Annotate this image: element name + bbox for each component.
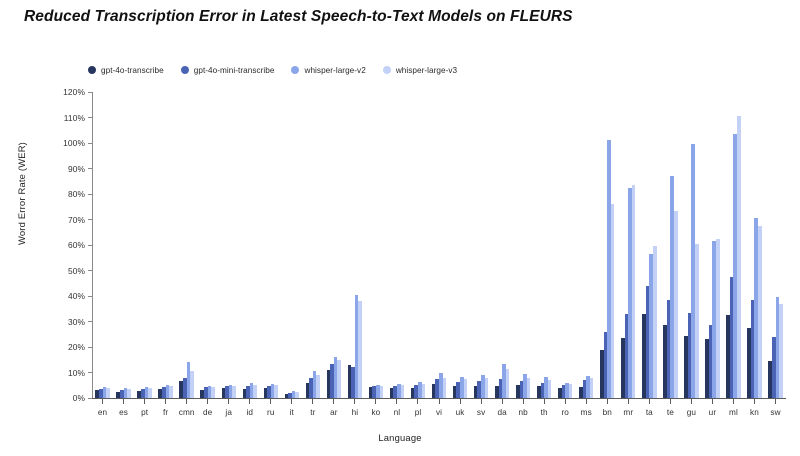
bar-group	[365, 92, 386, 398]
x-axis-tick-mark	[354, 399, 355, 404]
x-axis-tick-mark	[396, 399, 397, 404]
x-axis-tick-label: sv	[477, 408, 485, 417]
x-axis-tick-mark	[228, 399, 229, 404]
legend-label: gpt-4o-transcribe	[101, 66, 164, 75]
x-axis-tick: id	[239, 399, 260, 421]
y-axis-tick: 60%	[68, 240, 92, 250]
x-axis-tick-mark	[460, 399, 461, 404]
x-axis-tick: pt	[134, 399, 155, 421]
bar-group	[660, 92, 681, 398]
x-axis-tick: ru	[260, 399, 281, 421]
x-axis-tick-mark	[123, 399, 124, 404]
bar-group	[702, 92, 723, 398]
y-axis-tick: 30%	[68, 317, 92, 327]
y-axis-tick: 80%	[68, 189, 92, 199]
bar[interactable]	[695, 244, 699, 398]
x-axis-tick-mark	[544, 399, 545, 404]
x-axis-tick-label: nl	[394, 408, 401, 417]
legend-label: whisper-large-v2	[304, 66, 365, 75]
y-axis-tick-label: 100%	[63, 138, 85, 148]
x-axis-tick-label: da	[497, 408, 506, 417]
x-axis-tick-mark	[523, 399, 524, 404]
legend-swatch-icon	[181, 66, 189, 74]
legend-swatch-icon	[383, 66, 391, 74]
bar-groups	[92, 92, 786, 398]
bar-group	[513, 92, 534, 398]
x-axis-tick-label: ms	[581, 408, 592, 417]
x-axis-tick-label: vi	[436, 408, 442, 417]
x-axis-tick-label: en	[98, 408, 107, 417]
x-axis-tick: ms	[576, 399, 597, 421]
y-axis-tick-label: 30%	[68, 317, 85, 327]
x-axis-title: Language	[0, 432, 800, 443]
bar-group	[281, 92, 302, 398]
x-axis-tick: pl	[407, 399, 428, 421]
x-axis-tick: te	[660, 399, 681, 421]
bar[interactable]	[380, 386, 384, 398]
bar[interactable]	[274, 385, 278, 398]
chart-legend: gpt-4o-transcribegpt-4o-mini-transcribew…	[88, 63, 457, 77]
x-axis-tick-mark	[312, 399, 313, 404]
x-axis-tick: sv	[471, 399, 492, 421]
bar[interactable]	[127, 389, 131, 398]
y-axis-title: Word Error Rate (WER)	[16, 142, 27, 245]
bar-group	[113, 92, 134, 398]
y-axis-tick: 70%	[68, 215, 92, 225]
bar[interactable]	[737, 116, 741, 398]
bar-group	[197, 92, 218, 398]
x-axis-tick: ml	[723, 399, 744, 421]
bar[interactable]	[464, 379, 468, 398]
x-axis-tick-label: nb	[518, 408, 527, 417]
bar-group	[407, 92, 428, 398]
x-axis-tick-mark	[565, 399, 566, 404]
bar-group	[681, 92, 702, 398]
bar[interactable]	[211, 387, 215, 398]
x-axis-tick: nb	[513, 399, 534, 421]
bar-group	[492, 92, 513, 398]
x-axis-tick-mark	[165, 399, 166, 404]
x-axis-ticks: enesptfrcmndejaidruittrarhikonlplviuksvd…	[92, 399, 786, 421]
bar-group	[134, 92, 155, 398]
x-axis-tick-label: ar	[330, 408, 337, 417]
bar-group	[555, 92, 576, 398]
x-axis-tick-mark	[102, 399, 103, 404]
x-axis-tick-mark	[733, 399, 734, 404]
x-axis-tick-mark	[586, 399, 587, 404]
y-axis-tick: 90%	[68, 164, 92, 174]
bar-group	[323, 92, 344, 398]
x-axis-tick-mark	[712, 399, 713, 404]
legend-swatch-icon	[88, 66, 96, 74]
bar[interactable]	[232, 386, 236, 398]
x-axis-tick-label: ja	[225, 408, 232, 417]
x-axis-tick-mark	[649, 399, 650, 404]
x-axis-tick-mark	[502, 399, 503, 404]
y-axis-tick-label: 20%	[68, 342, 85, 352]
bar-group	[597, 92, 618, 398]
bar-group	[218, 92, 239, 398]
x-axis-tick: vi	[429, 399, 450, 421]
bar[interactable]	[316, 375, 320, 398]
x-axis-tick: ja	[218, 399, 239, 421]
x-axis-tick-mark	[144, 399, 145, 404]
x-axis-tick-label: hi	[352, 408, 359, 417]
x-axis-tick-label: pt	[141, 408, 148, 417]
x-axis-tick-label: sw	[770, 408, 780, 417]
chart-container: Reduced Transcription Error in Latest Sp…	[0, 0, 800, 456]
x-axis-tick: de	[197, 399, 218, 421]
x-axis-tick-label: de	[203, 408, 212, 417]
x-axis-tick: es	[113, 399, 134, 421]
x-axis-tick-label: cmn	[179, 408, 195, 417]
x-axis-tick-label: fr	[163, 408, 168, 417]
bar-group	[429, 92, 450, 398]
y-axis-tick: 120%	[63, 87, 92, 97]
bar[interactable]	[653, 246, 657, 398]
x-axis-tick-label: bn	[603, 408, 612, 417]
bar[interactable]	[527, 378, 531, 398]
bar[interactable]	[569, 384, 573, 398]
bar-group	[176, 92, 197, 398]
x-axis-tick-mark	[333, 399, 334, 404]
y-axis-tick: 100%	[63, 138, 92, 148]
x-axis-tick-label: ro	[561, 408, 568, 417]
x-axis-tick: gu	[681, 399, 702, 421]
x-axis-tick: ur	[702, 399, 723, 421]
x-axis-tick-mark	[270, 399, 271, 404]
bar-group	[744, 92, 765, 398]
x-axis-tick-mark	[628, 399, 629, 404]
x-axis-tick: sw	[765, 399, 786, 421]
x-axis-tick: it	[281, 399, 302, 421]
bar[interactable]	[632, 185, 636, 398]
x-axis-tick: mr	[618, 399, 639, 421]
bar-group	[155, 92, 176, 398]
x-axis-tick-label: es	[119, 408, 128, 417]
y-axis-tick-label: 50%	[68, 266, 85, 276]
x-axis-tick-mark	[670, 399, 671, 404]
y-axis-tick: 20%	[68, 342, 92, 352]
bar[interactable]	[169, 386, 173, 398]
legend-swatch-icon	[291, 66, 299, 74]
x-axis-tick-mark	[186, 399, 187, 404]
y-axis-tick: 50%	[68, 266, 92, 276]
x-axis-tick: ko	[365, 399, 386, 421]
x-axis-tick: uk	[450, 399, 471, 421]
bar-group	[239, 92, 260, 398]
bar-group	[92, 92, 113, 398]
x-axis-tick-mark	[439, 399, 440, 404]
x-axis-tick: cmn	[176, 399, 197, 421]
bar-group	[534, 92, 555, 398]
x-axis-tick: ta	[639, 399, 660, 421]
y-axis-tick-label: 80%	[68, 189, 85, 199]
x-axis-tick-mark	[291, 399, 292, 404]
x-axis-tick-label: tr	[310, 408, 315, 417]
x-axis-tick-mark	[249, 399, 250, 404]
x-axis-tick-mark	[775, 399, 776, 404]
bar[interactable]	[548, 380, 552, 398]
bar[interactable]	[443, 378, 447, 398]
x-axis-tick-mark	[417, 399, 418, 404]
plot-area: 120%110%100%90%80%70%60%50%40%30%20%10%0…	[92, 92, 786, 398]
x-axis-tick: da	[492, 399, 513, 421]
x-axis-tick-label: uk	[456, 408, 465, 417]
bar[interactable]	[590, 378, 594, 398]
bar-group	[386, 92, 407, 398]
legend-label: gpt-4o-mini-transcribe	[194, 66, 275, 75]
bar[interactable]	[106, 388, 110, 398]
x-axis-tick-mark	[207, 399, 208, 404]
bar-group	[302, 92, 323, 398]
x-axis-tick-label: mr	[623, 408, 633, 417]
y-axis-tick: 110%	[64, 113, 92, 123]
bar[interactable]	[295, 392, 299, 398]
x-axis-tick-mark	[481, 399, 482, 404]
bar-group	[723, 92, 744, 398]
bar[interactable]	[337, 360, 341, 398]
x-axis-tick-mark	[691, 399, 692, 404]
x-axis-tick-label: ru	[267, 408, 274, 417]
y-axis-tick-label: 10%	[68, 368, 85, 378]
bar-group	[450, 92, 471, 398]
x-axis-tick-label: gu	[687, 408, 696, 417]
legend-item[interactable]: gpt-4o-mini-transcribe	[181, 66, 275, 75]
x-axis-tick: tr	[302, 399, 323, 421]
x-axis-tick: th	[534, 399, 555, 421]
x-axis-tick: fr	[155, 399, 176, 421]
x-axis-tick-label: ur	[709, 408, 716, 417]
legend-item[interactable]: whisper-large-v3	[383, 66, 457, 75]
legend-item[interactable]: gpt-4o-transcribe	[88, 66, 164, 75]
y-axis-tick: 10%	[68, 368, 92, 378]
bar[interactable]	[716, 239, 720, 398]
y-axis-tick-label: 60%	[68, 240, 85, 250]
x-axis-tick-label: kn	[750, 408, 759, 417]
x-axis-tick-label: ml	[729, 408, 738, 417]
y-axis-tick: 0%	[73, 393, 92, 403]
x-axis-tick-label: ko	[371, 408, 380, 417]
bar-group	[618, 92, 639, 398]
bar-group	[344, 92, 365, 398]
bar[interactable]	[779, 304, 783, 398]
bar[interactable]	[611, 204, 615, 398]
bar[interactable]	[485, 378, 489, 398]
y-axis-tick-label: 70%	[68, 215, 85, 225]
bar[interactable]	[674, 211, 678, 398]
bar[interactable]	[422, 384, 426, 398]
y-axis-tick: 40%	[68, 291, 92, 301]
y-axis-tick-label: 90%	[68, 164, 85, 174]
y-axis-tick-label: 110%	[64, 113, 85, 123]
y-axis-tick-label: 0%	[73, 393, 85, 403]
bar[interactable]	[758, 226, 762, 398]
x-axis-tick-mark	[754, 399, 755, 404]
bar[interactable]	[190, 371, 194, 398]
bar[interactable]	[358, 301, 362, 398]
x-axis-tick: nl	[386, 399, 407, 421]
x-axis-tick: ar	[323, 399, 344, 421]
bar[interactable]	[506, 369, 510, 398]
x-axis-tick-label: it	[290, 408, 294, 417]
bar-group	[260, 92, 281, 398]
x-axis-tick: hi	[344, 399, 365, 421]
x-axis-tick-label: pl	[415, 408, 422, 417]
y-axis-tick-label: 40%	[68, 291, 85, 301]
chart-title: Reduced Transcription Error in Latest Sp…	[24, 8, 573, 26]
x-axis-tick-label: id	[246, 408, 253, 417]
x-axis-tick-mark	[607, 399, 608, 404]
bar[interactable]	[253, 385, 257, 398]
bar[interactable]	[401, 385, 405, 398]
x-axis-tick-mark	[375, 399, 376, 404]
y-axis-tick-label: 120%	[63, 87, 85, 97]
bar-group	[639, 92, 660, 398]
x-axis-tick: bn	[597, 399, 618, 421]
x-axis-tick: ro	[555, 399, 576, 421]
legend-item[interactable]: whisper-large-v2	[291, 66, 365, 75]
x-axis-tick: kn	[744, 399, 765, 421]
bar-group	[471, 92, 492, 398]
x-axis-tick: en	[92, 399, 113, 421]
bar[interactable]	[148, 388, 152, 398]
x-axis-tick-label: te	[667, 408, 674, 417]
x-axis-tick-label: th	[541, 408, 548, 417]
bar-group	[576, 92, 597, 398]
x-axis-tick-label: ta	[646, 408, 653, 417]
bar-group	[765, 92, 786, 398]
legend-label: whisper-large-v3	[396, 66, 457, 75]
